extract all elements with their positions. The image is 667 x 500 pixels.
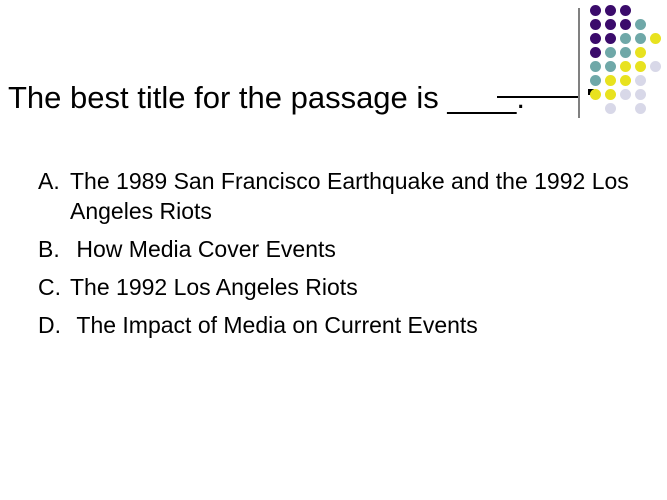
answer-option-a[interactable]: A.The 1989 San Francisco Earthquake and …: [38, 166, 648, 226]
decoration-dot-purple: [590, 33, 601, 44]
decoration-dot-purple: [605, 19, 616, 30]
decoration-dot-purple: [620, 19, 631, 30]
decoration-dot-teal: [605, 47, 616, 58]
decoration-dot-teal: [635, 19, 646, 30]
answer-marker: D.: [38, 310, 68, 340]
decoration-dot-lavender: [635, 103, 646, 114]
answer-marker: A.: [38, 166, 68, 196]
decoration-dot-teal: [620, 47, 631, 58]
decoration-dot-lavender: [635, 89, 646, 100]
decoration-dot-lavender: [650, 61, 661, 72]
answer-marker: C.: [38, 272, 68, 302]
answer-option-d[interactable]: D. The Impact of Media on Current Events: [38, 310, 648, 340]
decoration-dot-yellow: [635, 61, 646, 72]
decoration-dot-lavender: [635, 75, 646, 86]
decoration-dot-purple: [590, 5, 601, 16]
corner-decoration: [570, 0, 667, 125]
answer-marker: B.: [38, 234, 68, 264]
answer-text: The 1989 San Francisco Earthquake and th…: [68, 166, 648, 226]
decoration-dot-yellow: [650, 33, 661, 44]
decoration-dot-yellow: [635, 47, 646, 58]
decoration-dot-purple: [605, 5, 616, 16]
decoration-dot-teal: [605, 61, 616, 72]
answer-text: The 1992 Los Angeles Riots: [68, 272, 648, 302]
dot-matrix: [590, 5, 667, 120]
decoration-dot-lavender: [620, 89, 631, 100]
decoration-dot-yellow: [620, 61, 631, 72]
answer-option-b[interactable]: B. How Media Cover Events: [38, 234, 648, 264]
answer-text: The Impact of Media on Current Events: [68, 310, 648, 340]
decoration-dot-teal: [635, 33, 646, 44]
answer-options-list: A.The 1989 San Francisco Earthquake and …: [38, 166, 648, 348]
answer-option-c[interactable]: C.The 1992 Los Angeles Riots: [38, 272, 648, 302]
decoration-dot-yellow: [605, 89, 616, 100]
decoration-dot-purple: [590, 19, 601, 30]
decoration-dot-yellow: [620, 75, 631, 86]
answer-text: How Media Cover Events: [68, 234, 648, 264]
decoration-dot-yellow: [605, 75, 616, 86]
decoration-dot-teal: [620, 33, 631, 44]
decoration-dot-yellow: [590, 89, 601, 100]
decoration-dot-purple: [605, 33, 616, 44]
decoration-dot-teal: [590, 75, 601, 86]
decoration-dot-teal: [590, 61, 601, 72]
page-title: The best title for the passage is ____.: [8, 79, 583, 117]
decoration-dot-purple: [620, 5, 631, 16]
decoration-dot-purple: [590, 47, 601, 58]
decoration-dot-lavender: [605, 103, 616, 114]
